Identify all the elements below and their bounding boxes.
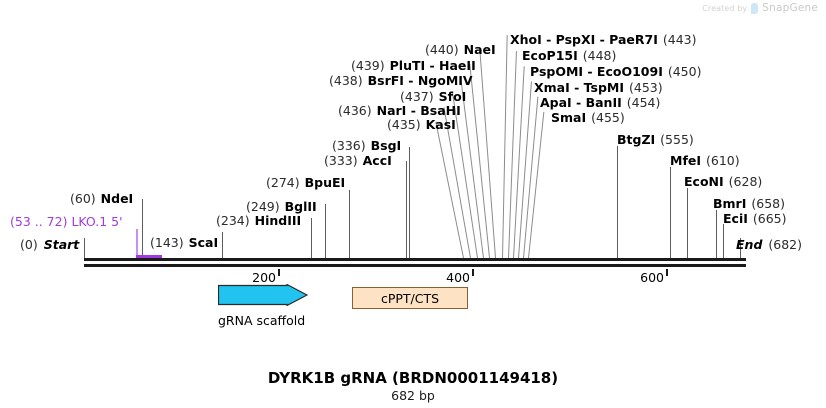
snapgene-logo-icon — [751, 3, 758, 14]
enzyme-pos-kasi: (435) — [387, 117, 421, 132]
enzyme-label-nari-bsahi[interactable]: (436)NarI - BsaHI — [338, 104, 461, 118]
enzyme-name-mfei: MfeI — [670, 153, 701, 168]
enzyme-name-bmri: BmrI — [713, 196, 746, 211]
watermark-created-label: Created by — [702, 4, 747, 13]
end-position: (682) — [768, 237, 802, 252]
enzyme-pos-ecii: (665) — [753, 211, 787, 226]
enzyme-pos-btgzi: (555) — [660, 132, 694, 147]
enzyme-label-xmai-tspmi[interactable]: XmaI - TspMI(453) — [534, 81, 663, 95]
enzyme-label-mfei[interactable]: MfeI(610) — [670, 154, 740, 168]
enzyme-pos-ndei: (60) — [70, 191, 96, 206]
end-label: End — [736, 237, 762, 252]
enzyme-name-naei: NaeI — [464, 42, 496, 57]
enzyme-label-ecii[interactable]: EciI(665) — [723, 212, 787, 226]
enzyme-pos-bsgi: (336) — [332, 138, 366, 153]
enzyme-name-hindiii: HindIII — [255, 213, 302, 228]
enzyme-label-btgzi[interactable]: BtgZI(555) — [617, 133, 694, 147]
leader-line-econi — [687, 188, 688, 258]
enzyme-pos-scai: (143) — [150, 235, 184, 250]
enzyme-pos-hindiii: (234) — [216, 213, 250, 228]
enzyme-name-nari-bsahi: NarI - BsaHI — [377, 103, 461, 118]
leader-line-bsgi — [409, 147, 410, 258]
enzyme-label-ndei[interactable]: (60)NdeI — [70, 192, 133, 206]
enzyme-label-bpuei[interactable]: (274)BpuEI — [266, 176, 345, 190]
enzyme-pos-xhoi-pspxi-paer7i: (443) — [663, 32, 697, 47]
leader-line-xhoi-pspxi-paer7i — [502, 35, 508, 258]
enzyme-label-sfoi[interactable]: (437)SfoI — [400, 90, 466, 104]
start-position: (0) — [20, 237, 38, 252]
enzyme-pos-pspomi-ecoo109i: (450) — [668, 64, 702, 79]
enzyme-pos-bsrfi-ngomiv: (438) — [329, 73, 363, 88]
leader-line-acci — [406, 161, 407, 258]
ruler-label-200: 200 — [252, 270, 278, 285]
leader-line-scai — [222, 232, 223, 258]
enzyme-pos-ecop15i: (448) — [583, 48, 617, 63]
enzyme-name-econi: EcoNI — [684, 174, 724, 189]
enzyme-label-smai[interactable]: SmaI(455) — [551, 111, 625, 125]
enzyme-label-bsgi[interactable]: (336)BsgI — [332, 139, 401, 153]
enzyme-name-pluti-haeii: PluTI - HaeII — [390, 58, 476, 73]
enzyme-pos-bpuei: (274) — [266, 175, 300, 190]
enzyme-name-acci: AccI — [363, 153, 392, 168]
ruler-label-400: 400 — [446, 270, 472, 285]
leader-line-hindiii — [311, 218, 312, 258]
enzyme-label-xhoi-pspxi-paer7i[interactable]: XhoI - PspXI - PaeR7I(443) — [510, 33, 697, 47]
primer-stem-lko1-5prime — [136, 229, 138, 258]
enzyme-name-ecop15i: EcoP15I — [522, 48, 578, 63]
enzyme-pos-nari-bsahi: (436) — [338, 103, 372, 118]
enzyme-label-apai-banii[interactable]: ApaI - BanII(454) — [540, 96, 660, 110]
ruler-tick-600 — [666, 269, 668, 276]
enzyme-label-bglii[interactable]: (249)BglII — [246, 200, 317, 214]
enzyme-label-hindiii[interactable]: (234)HindIII — [216, 214, 301, 228]
feature-caption-grna-scaffold: gRNA scaffold — [218, 313, 305, 328]
enzyme-pos-naei: (440) — [425, 42, 459, 57]
enzyme-name-bsrfi-ngomiv: BsrFI - NgoMIV — [368, 73, 473, 88]
enzyme-name-ecii: EciI — [723, 211, 748, 226]
ruler-tick-400 — [472, 269, 474, 276]
enzyme-label-ecop15i[interactable]: EcoP15I(448) — [522, 49, 616, 63]
feature-label-cppt-cts: cPPT/CTS — [381, 291, 439, 306]
feature-cppt-cts[interactable]: cPPT/CTS — [352, 287, 468, 309]
leader-line-mfei — [670, 167, 671, 258]
enzyme-pos-bglii: (249) — [246, 199, 280, 214]
enzyme-pos-smai: (455) — [591, 110, 625, 125]
enzyme-label-bsrfi-ngomiv[interactable]: (438)BsrFI - NgoMIV — [329, 74, 473, 88]
sequence-backbone-upper — [84, 258, 746, 261]
primer-bar-lko1-5prime — [136, 255, 162, 258]
sequence-map: Created by SnapGene 200 400 600 (60)NdeI… — [0, 0, 826, 408]
enzyme-label-pluti-haeii[interactable]: (439)PluTI - HaeII — [351, 59, 476, 73]
leader-line-naei — [479, 50, 496, 258]
primer-range-lko1-5prime: (53 .. 72) — [10, 214, 67, 229]
enzyme-label-kasi[interactable]: (435)KasI — [387, 118, 456, 132]
enzyme-name-kasi: KasI — [426, 117, 456, 132]
enzyme-name-ndei: NdeI — [101, 191, 134, 206]
enzyme-label-econi[interactable]: EcoNI(628) — [684, 175, 762, 189]
enzyme-pos-bmri: (658) — [751, 196, 785, 211]
enzyme-label-bmri[interactable]: BmrI(658) — [713, 197, 785, 211]
primer-name-lko1-5prime: LKO.1 5' — [71, 214, 122, 229]
leader-line-bmri — [716, 210, 717, 258]
enzyme-pos-pluti-haeii: (439) — [351, 58, 385, 73]
enzyme-name-btgzi: BtgZI — [617, 132, 655, 147]
ruler-tick-200 — [278, 269, 280, 276]
leader-line-btgzi — [617, 146, 618, 258]
enzyme-pos-econi: (628) — [729, 174, 763, 189]
enzyme-name-bsgi: BsgI — [371, 138, 402, 153]
enzyme-name-scai: ScaI — [189, 235, 219, 250]
enzyme-name-sfoi: SfoI — [439, 89, 467, 104]
enzyme-name-apai-banii: ApaI - BanII — [540, 95, 622, 110]
ruler-label-600: 600 — [640, 270, 666, 285]
leader-line-start — [84, 238, 85, 258]
enzyme-name-smai: SmaI — [551, 110, 586, 125]
leader-line-bpuei — [349, 190, 350, 258]
enzyme-label-acci[interactable]: (333)AccI — [324, 154, 392, 168]
enzyme-pos-xmai-tspmi: (453) — [629, 80, 663, 95]
enzyme-pos-mfei: (610) — [706, 153, 740, 168]
enzyme-name-pspomi-ecoo109i: PspOMI - EcoO109I — [530, 64, 663, 79]
enzyme-label-naei[interactable]: (440)NaeI — [425, 43, 496, 57]
sequence-end-marker[interactable]: End(682) — [736, 237, 802, 252]
enzyme-name-bglii: BglII — [285, 199, 317, 214]
enzyme-name-xmai-tspmi: XmaI - TspMI — [534, 80, 624, 95]
feature-grna-scaffold[interactable] — [218, 284, 308, 306]
enzyme-pos-sfoi: (437) — [400, 89, 434, 104]
enzyme-pos-apai-banii: (454) — [627, 95, 661, 110]
watermark-brand-label: SnapGene — [762, 2, 818, 14]
start-label: Start — [44, 237, 80, 252]
enzyme-name-xhoi-pspxi-paer7i: XhoI - PspXI - PaeR7I — [510, 32, 658, 47]
page-title: DYRK1B gRNA (BRDN0001149418) — [0, 369, 826, 387]
primer-label-lko1-5prime[interactable]: (53 .. 72) LKO.1 5' — [10, 214, 123, 229]
enzyme-pos-acci: (333) — [324, 153, 358, 168]
snapgene-watermark: Created by SnapGene — [702, 2, 818, 14]
enzyme-label-pspomi-ecoo109i[interactable]: PspOMI - EcoO109I(450) — [530, 65, 701, 79]
leader-line-bglii — [325, 204, 326, 258]
leader-line-ecii — [723, 224, 724, 258]
enzyme-name-bpuei: BpuEI — [305, 175, 346, 190]
sequence-length: 682 bp — [0, 388, 826, 403]
enzyme-label-scai[interactable]: (143)ScaI — [150, 236, 218, 250]
sequence-start-marker[interactable]: (0)Start — [20, 237, 79, 252]
sequence-backbone-lower — [84, 264, 746, 267]
leader-line-ndei — [142, 199, 143, 258]
